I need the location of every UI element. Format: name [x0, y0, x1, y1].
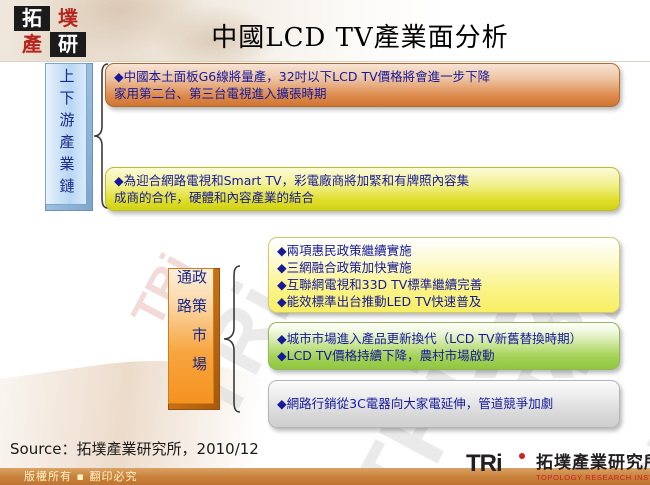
label-upstream-text: 上下游產業鏈 [59, 68, 74, 200]
tri-logo-chinese-name: 拓墣產業研究所 [536, 453, 650, 473]
tri-seal-logo: 拓 墣 產 研 [14, 6, 90, 58]
brace-connector-lower [222, 262, 242, 417]
seal-char-3: 產 [14, 32, 50, 57]
label-policy-text: 政策市場通路 [176, 269, 206, 403]
callout-panel-market: ◆城市市場進入產品更新換代（LCD TV新舊替換時期） ◆LCD TV價格持續下… [268, 322, 620, 370]
copyright-notice: 版權所有 ▪ 翻印必究 [24, 468, 137, 485]
callout-panel-supply: ◆中國本土面板G6線將量產，32吋以下LCD TV價格將會進一步下降 家用第二台… [105, 63, 620, 107]
callout-panel-channel: ◆網路行銷從3C電器向大家電延伸，管道競爭加劇 [268, 380, 620, 428]
seal-char-1: 拓 [14, 6, 50, 31]
seal-char-4: 研 [50, 32, 86, 57]
block-front-face: 政策市場通路 [168, 268, 214, 404]
label-upstream-downstream-chain: 上下游產業鏈 [45, 63, 93, 211]
callout-panel-smarttv: ◆為迎合網路電視和Smart TV，彩電廠商將加緊和有牌照內容集 成商的合作，硬… [105, 167, 620, 211]
callout-panel-policy: ◆兩項惠民政策繼續實施 ◆三網融合政策加快實施 ◆互聯網電視和33D TV標準繼… [268, 237, 620, 313]
block-front-face: 上下游產業鏈 [45, 63, 87, 205]
page-title: 中國LCD TV產業面分析 [160, 20, 560, 56]
tri-logo-dot-icon [519, 453, 525, 459]
tri-logo-mark: TRi [466, 452, 502, 476]
seal-char-2: 墣 [50, 6, 86, 31]
tri-logo-english-name: TOPOLOGY RESEARCH INSTITUTE [536, 473, 650, 482]
label-policy-market-channel: 政策市場通路 [168, 268, 220, 410]
tri-corporate-logo: TRi 拓墣產業研究所 TOPOLOGY RESEARCH INSTITUTE [466, 452, 646, 480]
slide-canvas: A TRi TRi TRi TRi TRi 拓 墣 產 研 中國LCD TV產業… [0, 0, 650, 485]
source-note: Source：拓墣產業研究所，2010/12 [10, 438, 259, 459]
